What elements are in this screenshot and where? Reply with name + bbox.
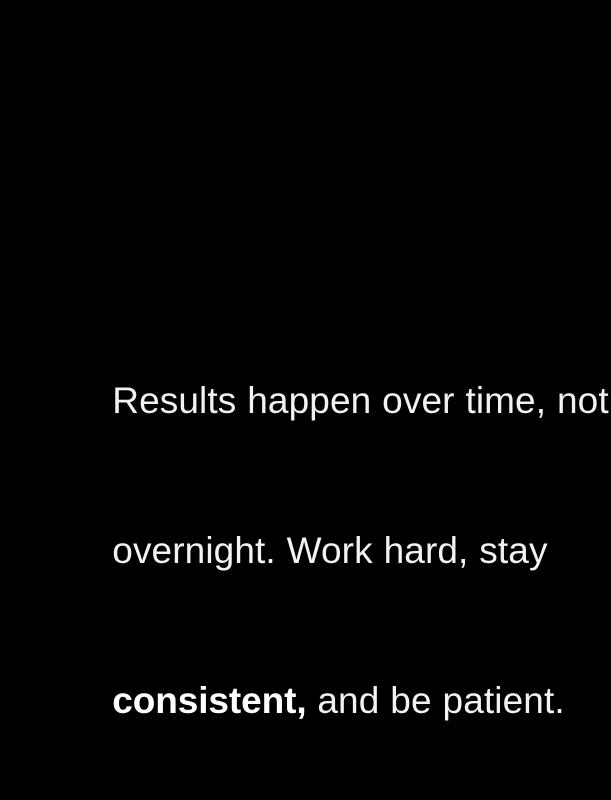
quote-line-3: consistent, and be patient. [47, 626, 567, 776]
quote-text-block: Results happen over time, not overnight.… [47, 326, 567, 776]
quote-card: Results happen over time, not overnight.… [0, 0, 611, 800]
quote-emphasis-consistent: consistent, [112, 680, 306, 721]
quote-line-2: overnight. Work hard, stay [47, 476, 567, 626]
quote-line-1-segment-1: Results happen over time, not [112, 380, 608, 421]
quote-line-1: Results happen over time, not [47, 326, 567, 476]
quote-line-2-segment-1: overnight. Work hard, stay [112, 530, 547, 571]
quote-line-3-segment-2: and be patient. [307, 680, 565, 721]
